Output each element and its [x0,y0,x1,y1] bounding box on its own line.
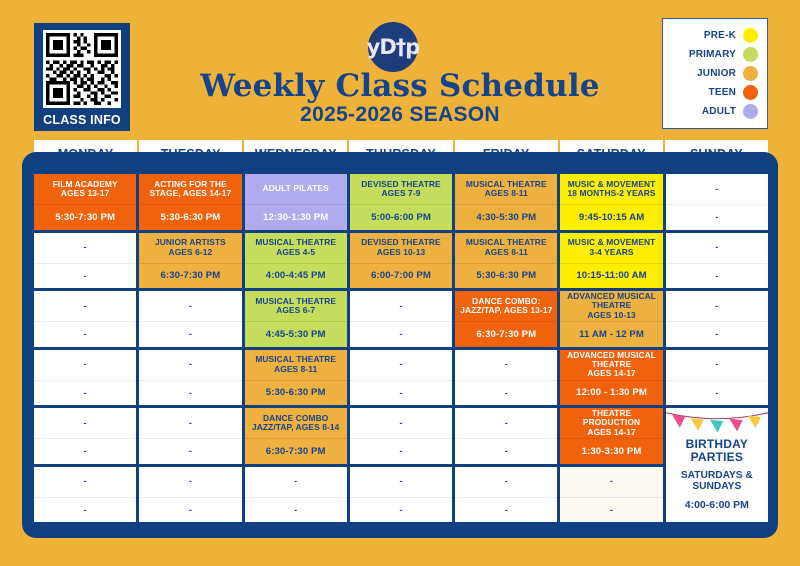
empty-cell: -- [666,350,768,406]
class-title: DEVISED THEATREAGES 7-9 [350,174,452,204]
bunting-flag [729,419,742,432]
class-cell[interactable]: MUSIC & MOVEMENT18 MONTHS-2 YEARS9:45-10… [560,174,662,230]
class-time: 11 AM - 12 PM [560,321,662,346]
class-title: - [666,233,768,263]
class-time: - [34,438,136,463]
class-time: - [666,321,768,346]
class-title: FILM ACADEMYAGES 13-17 [34,174,136,204]
class-cell[interactable]: DEVISED THEATREAGES 10-136:00-7:00 PM [350,233,452,289]
bunting-flag [710,420,723,432]
empty-cell: -- [139,408,241,464]
class-time: 1:30-3:30 PM [560,438,662,463]
class-time: - [455,497,557,522]
legend-item-junior: JUNIOR [670,64,758,83]
legend-label: JUNIOR [697,68,736,79]
class-title: - [34,408,136,438]
class-title: MUSICAL THEATREAGES 8-11 [455,233,557,263]
class-title: - [34,467,136,497]
legend-label: PRE-K [704,30,736,41]
empty-cell: -- [560,467,662,523]
class-time: - [350,438,452,463]
class-title: MUSIC & MOVEMENT18 MONTHS-2 YEARS [560,174,662,204]
class-time: - [139,380,241,405]
schedule-grid: FILM ACADEMYAGES 13-175:30-7:30 PMACTING… [34,174,768,522]
class-cell[interactable]: MUSIC & MOVEMENT3-4 YEARS10:15-11:00 AM [560,233,662,289]
class-title: - [34,233,136,263]
class-time: - [455,438,557,463]
empty-cell: -- [350,350,452,406]
class-title: - [245,467,347,497]
class-time: - [666,204,768,229]
legend-item-primary: PRIMARY [670,45,758,64]
class-time: - [34,321,136,346]
class-time: 4:45-5:30 PM [245,321,347,346]
class-cell[interactable]: ADVANCED MUSICALTHEATREAGES 10-1311 AM -… [560,291,662,347]
birthday-time: 4:00-6:00 PM [685,499,749,511]
empty-cell: -- [34,350,136,406]
class-time: - [245,497,347,522]
class-time: - [455,380,557,405]
legend-label: ADULT [702,106,736,117]
empty-cell: -- [139,350,241,406]
age-level-legend: PRE-KPRIMARYJUNIORTEENADULT [662,18,768,129]
class-cell[interactable]: MUSICAL THEATREAGES 8-114:30-5:30 PM [455,174,557,230]
class-title: MUSICAL THEATREAGES 8-11 [245,350,347,380]
class-time: 5:30-6:30 PM [455,263,557,288]
legend-color-swatch [743,47,758,62]
class-time: - [666,263,768,288]
class-cell[interactable]: ADVANCED MUSICALTHEATREAGES 14-1712:00 -… [560,350,662,406]
class-title: - [34,350,136,380]
class-cell[interactable]: THEATREPRODUCTIONAGES 14-171:30-3:30 PM [560,408,662,464]
class-time: 5:30-6:30 PM [245,380,347,405]
empty-cell: -- [666,233,768,289]
class-time: 5:30-7:30 PM [34,204,136,229]
class-title: - [139,467,241,497]
class-cell[interactable]: ADULT PILATES12:30-1:30 PM [245,174,347,230]
class-time: 6:30-7:30 PM [455,321,557,346]
class-title: MUSICAL THEATREAGES 4-5 [245,233,347,263]
legend-color-swatch [743,104,758,119]
legend-item-teen: TEEN [670,83,758,102]
class-title: - [666,174,768,204]
class-time: - [350,497,452,522]
class-title: DANCE COMBO:JAZZ/TAP, AGES 13-17 [455,291,557,321]
legend-item-pre-k: PRE-K [670,26,758,45]
empty-cell: -- [350,408,452,464]
class-title: - [139,408,241,438]
class-cell[interactable]: FILM ACADEMYAGES 13-175:30-7:30 PM [34,174,136,230]
empty-cell: -- [139,291,241,347]
class-time: - [350,380,452,405]
legend-color-swatch [743,28,758,43]
class-title: - [666,350,768,380]
empty-cell: -- [34,233,136,289]
class-time: 6:30-7:30 PM [245,438,347,463]
empty-cell: -- [350,467,452,523]
empty-cell: -- [455,467,557,523]
class-time: - [34,380,136,405]
class-time: 4:30-5:30 PM [455,204,557,229]
class-title: DEVISED THEATREAGES 10-13 [350,233,452,263]
class-title: JUNIOR ARTISTSAGES 6-12 [139,233,241,263]
legend-color-swatch [743,85,758,100]
class-cell[interactable]: DEVISED THEATREAGES 7-95:00-6:00 PM [350,174,452,230]
empty-cell: -- [455,350,557,406]
class-title: - [455,350,557,380]
class-time: 4:00-4:45 PM [245,263,347,288]
class-time: - [34,263,136,288]
class-time: 5:30-6:30 PM [139,204,241,229]
birthday-parties-cell[interactable]: BIRTHDAYPARTIESSATURDAYS &SUNDAYS4:00-6:… [666,408,768,522]
bunting-flag [748,416,761,429]
class-cell[interactable]: DANCE COMBO:JAZZ/TAP, AGES 13-176:30-7:3… [455,291,557,347]
empty-cell: -- [34,291,136,347]
birthday-days: SATURDAYS &SUNDAYS [681,470,753,493]
class-title: - [139,291,241,321]
class-title: - [455,467,557,497]
legend-label: TEEN [709,87,736,98]
empty-cell: -- [34,408,136,464]
class-time: - [139,438,241,463]
bunting-icon [666,410,768,432]
empty-cell: -- [245,467,347,523]
class-time: 6:30-7:30 PM [139,263,241,288]
class-time: 12:00 - 1:30 PM [560,380,662,405]
class-title: MUSIC & MOVEMENT3-4 YEARS [560,233,662,263]
class-title: - [560,467,662,497]
class-title: - [139,350,241,380]
class-cell[interactable]: MUSICAL THEATREAGES 8-115:30-6:30 PM [455,233,557,289]
class-title: - [455,408,557,438]
class-title: - [350,350,452,380]
birthday-title: BIRTHDAYPARTIES [686,438,749,465]
class-title: - [666,291,768,321]
class-time: 12:30-1:30 PM [245,204,347,229]
class-time: - [666,380,768,405]
empty-cell: -- [666,174,768,230]
legend-label: PRIMARY [689,49,736,60]
class-time: - [139,321,241,346]
bunting-flag [690,418,703,431]
class-title: - [350,408,452,438]
empty-cell: -- [34,467,136,523]
class-cell[interactable]: DANCE COMBOJAZZ/TAP, AGES 8-146:30-7:30 … [245,408,347,464]
class-title: ADULT PILATES [245,174,347,204]
class-title: ADVANCED MUSICALTHEATREAGES 14-17 [560,350,662,380]
class-time: - [139,497,241,522]
empty-cell: -- [455,408,557,464]
class-title: - [34,291,136,321]
brand-logo: yD†p [368,22,418,72]
class-title: - [350,467,452,497]
class-cell[interactable]: MUSICAL THEATREAGES 8-115:30-6:30 PM [245,350,347,406]
class-time: - [34,497,136,522]
bunting-flag [672,415,685,428]
class-title: - [350,291,452,321]
legend-color-swatch [743,66,758,81]
class-title: DANCE COMBOJAZZ/TAP, AGES 8-14 [245,408,347,438]
class-time: - [350,321,452,346]
class-cell[interactable]: MUSICAL THEATREAGES 4-54:00-4:45 PM [245,233,347,289]
empty-cell: -- [666,291,768,347]
class-time: 5:00-6:00 PM [350,204,452,229]
class-time: 9:45-10:15 AM [560,204,662,229]
class-title: ACTING FOR THESTAGE, AGES 14-17 [139,174,241,204]
class-title: ADVANCED MUSICALTHEATREAGES 10-13 [560,291,662,321]
class-time: 6:00-7:00 PM [350,263,452,288]
empty-cell: -- [139,467,241,523]
class-cell[interactable]: ACTING FOR THESTAGE, AGES 14-175:30-6:30… [139,174,241,230]
class-time: 10:15-11:00 AM [560,263,662,288]
logo-monogram: yD†p [367,35,420,59]
class-time: - [560,497,662,522]
class-cell[interactable]: JUNIOR ARTISTSAGES 6-126:30-7:30 PM [139,233,241,289]
class-cell[interactable]: MUSICAL THEATREAGES 6-74:45-5:30 PM [245,291,347,347]
class-title: THEATREPRODUCTIONAGES 14-17 [560,408,662,438]
empty-cell: -- [350,291,452,347]
legend-item-adult: ADULT [670,102,758,121]
class-title: MUSICAL THEATREAGES 8-11 [455,174,557,204]
class-title: MUSICAL THEATREAGES 6-7 [245,291,347,321]
